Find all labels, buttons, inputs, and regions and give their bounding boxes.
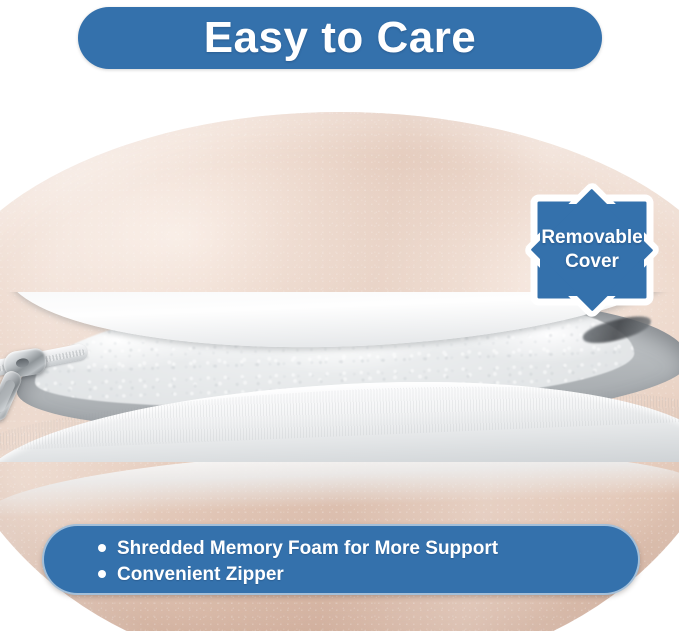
page-title: Easy to Care — [204, 16, 477, 60]
feature-label-0: Shredded Memory Foam for More Support — [117, 539, 498, 558]
product-infographic: Easy to Care Removable Cover Shredded Me… — [0, 0, 679, 631]
bullet-icon — [98, 570, 106, 578]
zipper-slider-hole — [15, 357, 29, 368]
eight-point-star-icon — [506, 173, 678, 327]
feature-banner: Shredded Memory Foam for More Support Co… — [42, 524, 640, 595]
feature-item-1: Convenient Zipper — [98, 561, 638, 587]
title-banner: Easy to Care — [78, 7, 602, 69]
feature-item-0: Shredded Memory Foam for More Support — [98, 535, 638, 561]
removable-cover-badge: Removable Cover — [506, 173, 678, 327]
feature-label-1: Convenient Zipper — [117, 565, 284, 584]
bullet-icon — [98, 544, 106, 552]
zipper-pull-inner — [0, 378, 16, 413]
